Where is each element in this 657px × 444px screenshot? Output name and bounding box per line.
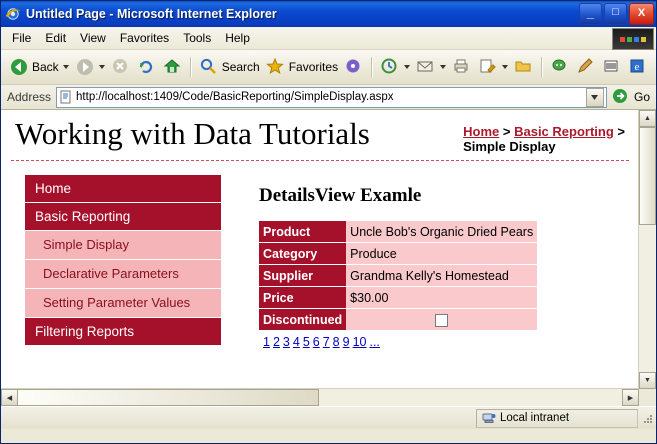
network-icon — [482, 412, 496, 424]
media-icon — [344, 57, 364, 77]
toolbar-separator-1 — [190, 57, 192, 77]
pager-link-5[interactable]: 5 — [303, 335, 310, 349]
mail-icon — [416, 57, 436, 77]
sidebar-item-setting-parameter-values[interactable]: Setting Parameter Values — [25, 289, 221, 318]
browser-window: Untitled Page - Microsoft Internet Explo… — [0, 0, 657, 444]
address-dropdown-icon[interactable] — [586, 88, 604, 107]
print-button[interactable] — [449, 53, 475, 81]
blue-e-icon: e — [628, 57, 648, 77]
messenger-icon — [550, 57, 570, 77]
details-label-product: Product — [259, 221, 346, 243]
search-button[interactable]: Search — [196, 53, 263, 81]
status-message — [3, 410, 472, 427]
pager-link-8[interactable]: 8 — [333, 335, 340, 349]
internet-explorer-icon — [5, 6, 21, 22]
menu-edit[interactable]: Edit — [38, 29, 73, 47]
address-value: http://localhost:1409/Code/BasicReportin… — [76, 91, 586, 103]
window-title: Untitled Page - Microsoft Internet Explo… — [26, 7, 579, 21]
maximize-button[interactable]: □ — [604, 3, 627, 25]
vertical-scroll-thumb[interactable] — [639, 127, 656, 225]
toolbar-separator-3 — [541, 57, 543, 77]
page-icon — [59, 90, 73, 104]
breadcrumb-section-link[interactable]: Basic Reporting — [514, 124, 614, 139]
messenger-button[interactable] — [547, 53, 573, 81]
table-row: 12345678910... — [259, 331, 537, 353]
go-arrow-icon — [611, 87, 631, 107]
scroll-right-button[interactable]: ▶ — [622, 389, 639, 406]
pager-link-3[interactable]: 3 — [283, 335, 290, 349]
sidebar-item-home[interactable]: Home — [25, 175, 221, 203]
barcode-icon — [602, 57, 622, 77]
mail-dropdown-icon[interactable] — [440, 65, 446, 69]
edit-button[interactable] — [475, 53, 511, 81]
back-arrow-icon — [9, 57, 29, 77]
sidebar-item-basic-reporting[interactable]: Basic Reporting — [25, 203, 221, 231]
web-page: Working with Data Tutorials Home > Basic… — [1, 110, 639, 389]
breadcrumb-current: Simple Display — [463, 139, 555, 154]
home-icon — [163, 57, 183, 77]
refresh-icon — [137, 57, 157, 77]
menu-favorites[interactable]: Favorites — [113, 29, 176, 47]
details-value-supplier: Grandma Kelly's Homestead — [346, 265, 537, 287]
details-value-discontinued — [346, 309, 537, 331]
history-icon — [380, 57, 400, 77]
status-zone: Local intranet — [476, 409, 638, 428]
go-label: Go — [634, 90, 650, 104]
menu-bar: File Edit View Favorites Tools Help — [1, 27, 656, 50]
details-value-category: Produce — [346, 243, 537, 265]
search-label: Search — [222, 60, 260, 74]
media-button[interactable] — [341, 53, 367, 81]
toolbar: Back Searc — [1, 50, 656, 85]
scroll-left-button[interactable]: ◀ — [1, 389, 18, 406]
breadcrumb-sep-1: > — [499, 124, 514, 139]
breadcrumb-sep-2: > — [614, 124, 625, 139]
back-button[interactable]: Back — [6, 53, 72, 81]
details-view-table: Product Uncle Bob's Organic Dried Pears … — [259, 221, 537, 352]
title-bar: Untitled Page - Microsoft Internet Explo… — [1, 1, 656, 27]
scroll-up-button[interactable]: ▲ — [639, 110, 656, 127]
horizontal-scroll-thumb[interactable] — [17, 389, 319, 406]
print-icon — [452, 57, 472, 77]
pager-link-1[interactable]: 1 — [263, 335, 270, 349]
scrollbar-corner — [639, 389, 656, 406]
horizontal-scrollbar[interactable]: ◀ ▶ — [1, 388, 639, 406]
table-row: Price $30.00 — [259, 287, 537, 309]
details-value-product: Uncle Bob's Organic Dried Pears — [346, 221, 537, 243]
menu-view[interactable]: View — [73, 29, 113, 47]
back-label: Back — [32, 60, 59, 74]
edit-icon — [478, 57, 498, 77]
left-navigation: Home Basic Reporting Simple Display Decl… — [25, 175, 221, 352]
menu-file[interactable]: File — [5, 29, 38, 47]
pager-link-7[interactable]: 7 — [323, 335, 330, 349]
details-label-supplier: Supplier — [259, 265, 346, 287]
back-dropdown-icon[interactable] — [63, 65, 69, 69]
breadcrumb: Home > Basic Reporting > Simple Display — [463, 116, 625, 154]
resize-grip[interactable] — [640, 411, 654, 425]
sidebar-item-simple-display[interactable]: Simple Display — [25, 231, 221, 260]
mail-button[interactable] — [413, 53, 449, 81]
discuss-button[interactable] — [511, 53, 537, 81]
history-dropdown-icon[interactable] — [404, 65, 410, 69]
home-button[interactable] — [160, 53, 186, 81]
menu-tools[interactable]: Tools — [176, 29, 218, 47]
sidebar-item-declarative-parameters[interactable]: Declarative Parameters — [25, 260, 221, 289]
folder-icon — [514, 57, 534, 77]
details-label-category: Category — [259, 243, 346, 265]
barcode-button[interactable] — [599, 53, 625, 81]
stop-button[interactable] — [108, 53, 134, 81]
history-button[interactable] — [377, 53, 413, 81]
go-button[interactable]: Go — [611, 87, 650, 107]
address-label: Address — [7, 90, 51, 104]
table-row: Discontinued — [259, 309, 537, 331]
menu-help[interactable]: Help — [218, 29, 257, 47]
pager: 12345678910... — [259, 331, 537, 353]
page-header: Working with Data Tutorials Home > Basic… — [1, 110, 639, 158]
favorites-label: Favorites — [289, 60, 338, 74]
pager-link-6[interactable]: 6 — [313, 335, 320, 349]
stop-icon — [111, 57, 131, 77]
pager-link-more[interactable]: ... — [369, 335, 379, 349]
blue-e-button[interactable]: e — [625, 53, 651, 81]
vertical-scrollbar[interactable]: ▲ ▼ — [638, 110, 656, 389]
address-bar: Address http://localhost:1409/Code/Basic… — [1, 85, 656, 110]
search-icon — [199, 57, 219, 77]
forward-button[interactable] — [72, 53, 108, 81]
pager-link-9[interactable]: 9 — [343, 335, 350, 349]
discontinued-checkbox — [435, 314, 448, 327]
windows-flag-icon — [612, 28, 654, 50]
table-row: Supplier Grandma Kelly's Homestead — [259, 265, 537, 287]
scroll-down-button[interactable]: ▼ — [639, 372, 656, 389]
forward-dropdown-icon[interactable] — [99, 65, 105, 69]
pager-link-2[interactable]: 2 — [273, 335, 280, 349]
minimize-button[interactable]: _ — [579, 3, 602, 25]
page-area: Working with Data Tutorials Home > Basic… — [1, 110, 656, 406]
forward-arrow-icon — [75, 57, 95, 77]
svg-text:e: e — [635, 61, 640, 73]
status-bar: Local intranet — [1, 406, 656, 429]
toolbar-separator-2 — [371, 57, 373, 77]
breadcrumb-home-link[interactable]: Home — [463, 124, 499, 139]
details-value-price: $30.00 — [346, 287, 537, 309]
pager-link-10[interactable]: 10 — [353, 335, 367, 349]
close-button[interactable]: X — [629, 3, 654, 25]
table-row: Category Produce — [259, 243, 537, 265]
pager-link-4[interactable]: 4 — [293, 335, 300, 349]
pencil-icon — [576, 57, 596, 77]
window-buttons: _ □ X — [579, 3, 654, 25]
table-row: Product Uncle Bob's Organic Dried Pears — [259, 221, 537, 243]
details-label-discontinued: Discontinued — [259, 309, 346, 331]
star-icon — [266, 57, 286, 77]
edit-dropdown-icon[interactable] — [502, 65, 508, 69]
status-zone-label: Local intranet — [500, 412, 569, 424]
address-input[interactable]: http://localhost:1409/Code/BasicReportin… — [56, 87, 607, 108]
details-label-price: Price — [259, 287, 346, 309]
content-title: DetailsView Examle — [259, 185, 639, 207]
page-title: Working with Data Tutorials — [15, 116, 370, 152]
sidebar-item-filtering-reports[interactable]: Filtering Reports — [25, 318, 221, 346]
main-content: DetailsView Examle Product Uncle Bob's O… — [259, 175, 639, 352]
refresh-button[interactable] — [134, 53, 160, 81]
pencil-button[interactable] — [573, 53, 599, 81]
favorites-button[interactable]: Favorites — [263, 53, 341, 81]
